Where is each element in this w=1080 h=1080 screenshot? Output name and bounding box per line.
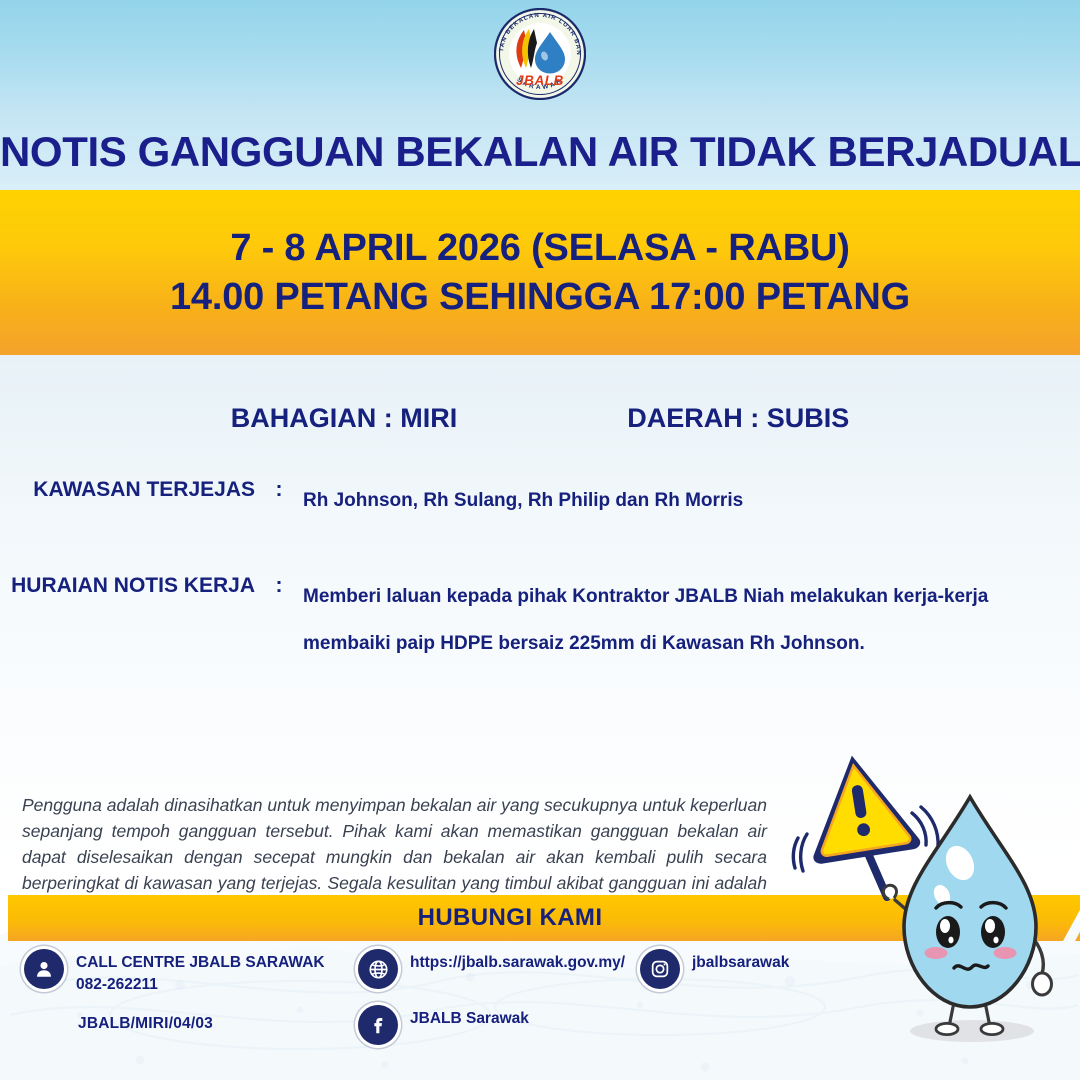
website-label: https://jbalb.sarawak.gov.my/ — [410, 949, 625, 974]
affected-areas-value: Rh Johnson, Rh Sulang, Rh Philip dan Rh … — [303, 477, 1003, 524]
district-label: DAERAH : SUBIS — [627, 403, 849, 434]
work-description-row: HURAIAN NOTIS KERJA : Memberi laluan kep… — [0, 573, 1080, 667]
affected-areas-colon: : — [255, 477, 303, 502]
call-centre-line1: CALL CENTRE JBALB SARAWAK — [76, 954, 325, 971]
facebook-icon — [358, 1005, 398, 1045]
notice-date: 7 - 8 APRIL 2026 (SELASA - RABU) — [230, 227, 849, 270]
contact-banner-label: HUBUNGI KAMI — [0, 895, 1020, 941]
affected-areas-label: KAWASAN TERJEJAS — [0, 477, 255, 502]
instagram-icon — [640, 949, 680, 989]
call-centre-text: CALL CENTRE JBALB SARAWAK 082-262211 — [76, 949, 325, 996]
notice-time: 14.00 PETANG SEHINGGA 17:00 PETANG — [170, 276, 910, 319]
contacts-section: CALL CENTRE JBALB SARAWAK 082-262211 htt… — [0, 947, 1080, 1067]
jbalb-sarawak-logo: JABATAN BEKALAN AIR LUAR BANDAR SARAWAK … — [494, 8, 586, 100]
work-description-value: Memberi laluan kepada pihak Kontraktor J… — [303, 573, 1003, 667]
call-centre-contact[interactable]: CALL CENTRE JBALB SARAWAK 082-262211 — [24, 949, 325, 996]
globe-icon — [358, 949, 398, 989]
contact-banner: HUBUNGI KAMI — [0, 895, 1080, 941]
division-label: BAHAGIAN : MIRI — [231, 403, 457, 434]
header-band: JABATAN BEKALAN AIR LUAR BANDAR SARAWAK … — [0, 0, 1080, 190]
affected-areas-row: KAWASAN TERJEJAS : Rh Johnson, Rh Sulang… — [0, 477, 1080, 524]
website-contact[interactable]: https://jbalb.sarawak.gov.my/ — [358, 949, 625, 989]
reference-number: JBALB/MIRI/04/03 — [78, 1015, 213, 1033]
facebook-contact[interactable]: JBALB Sarawak — [358, 1005, 529, 1045]
person-icon — [24, 949, 64, 989]
instagram-label: jbalbsarawak — [692, 949, 789, 974]
svg-text:JBALB: JBALB — [516, 73, 564, 88]
instagram-contact[interactable]: jbalbsarawak — [640, 949, 789, 989]
facebook-label: JBALB Sarawak — [410, 1005, 529, 1030]
call-centre-line2: 082-262211 — [76, 976, 158, 993]
water-disruption-notice: JABATAN BEKALAN AIR LUAR BANDAR SARAWAK … — [0, 0, 1080, 1080]
body-section: BAHAGIAN : MIRI DAERAH : SUBIS KAWASAN T… — [0, 355, 1080, 1080]
date-time-banner: 7 - 8 APRIL 2026 (SELASA - RABU) 14.00 P… — [0, 190, 1080, 355]
page-title: NOTIS GANGGUAN BEKALAN AIR TIDAK BERJADU… — [0, 128, 1080, 176]
region-row: BAHAGIAN : MIRI DAERAH : SUBIS — [0, 403, 1080, 434]
work-description-label: HURAIAN NOTIS KERJA — [0, 573, 255, 598]
work-description-colon: : — [255, 573, 303, 598]
